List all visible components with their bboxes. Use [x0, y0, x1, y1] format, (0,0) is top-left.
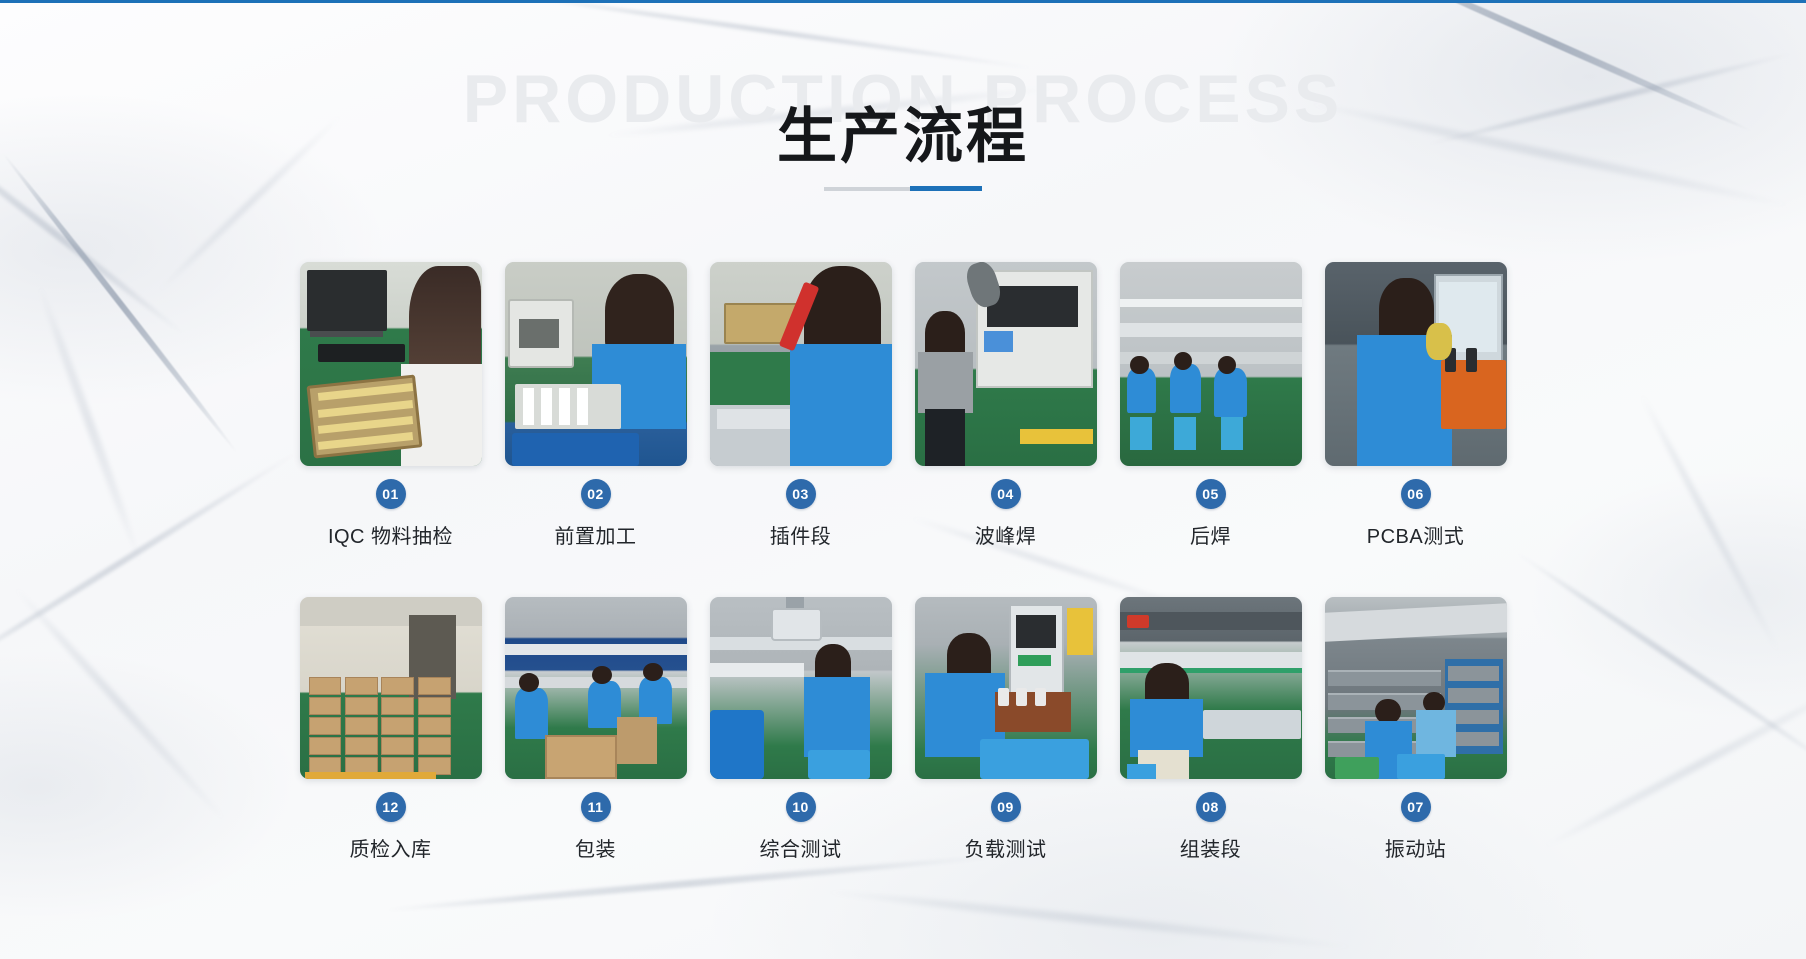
process-row: 12质检入库11包装10综合测试09负载测试08组装段07振动站: [300, 597, 1507, 862]
step-label: 波峰焊: [975, 520, 1037, 549]
process-photo-05[interactable]: [1120, 262, 1302, 466]
photo-pcba-testing: [1325, 262, 1507, 466]
carton: [309, 737, 342, 755]
bench: [710, 663, 805, 678]
step-number-badge: 05: [1196, 479, 1226, 509]
top-accent-bar: [0, 0, 1806, 3]
title-divider: [0, 186, 1806, 191]
process-photo-01[interactable]: [300, 262, 482, 466]
stool: [1174, 417, 1196, 450]
process-row: 01IQC 物料抽检02前置加工03插件段04波峰焊05后焊06PCBA测式: [300, 262, 1507, 549]
machine-panel: [987, 286, 1078, 327]
worker-shirt: [790, 344, 892, 466]
step-number-badge: 08: [1196, 792, 1226, 822]
process-photo-10[interactable]: [710, 597, 892, 779]
bin-shelf: [1448, 666, 1499, 681]
stool: [1127, 764, 1156, 779]
carton: [418, 677, 451, 695]
photo-qc-warehouse: [300, 597, 482, 779]
process-photo-02[interactable]: [505, 262, 687, 466]
step-number-badge: 09: [991, 792, 1021, 822]
worker-head: [804, 266, 880, 356]
worker: [588, 681, 621, 728]
yellow-part: [1426, 323, 1451, 360]
worker-pants: [925, 409, 965, 466]
blue-cabinet: [710, 710, 765, 779]
carton: [309, 717, 342, 735]
step-number-badge: 03: [786, 479, 816, 509]
pallet: [305, 772, 436, 779]
process-step-card-12[interactable]: 12质检入库: [300, 597, 482, 862]
screen: [984, 331, 1013, 351]
worker-shirt: [1416, 710, 1456, 757]
step-label: 前置加工: [555, 520, 637, 549]
blue-tray: [1397, 754, 1444, 779]
photo-post-soldering: [1120, 262, 1302, 466]
carton: [381, 677, 414, 695]
step-label: 综合测试: [760, 833, 842, 862]
machine-window: [519, 319, 559, 348]
worker: [1214, 368, 1247, 417]
step-number-badge: 04: [991, 479, 1021, 509]
process-photo-08[interactable]: [1120, 597, 1302, 779]
bulb: [1035, 688, 1046, 706]
part: [577, 388, 588, 425]
bin-shelf: [1448, 732, 1499, 747]
carton: [418, 697, 451, 715]
bin-shelf: [1448, 710, 1499, 725]
process-step-card-08[interactable]: 08组装段: [1120, 597, 1302, 862]
blue-bin: [512, 433, 639, 466]
process-photo-03[interactable]: [710, 262, 892, 466]
part: [541, 388, 552, 425]
process-photo-09[interactable]: [915, 597, 1097, 779]
process-step-card-09[interactable]: 09负载测试: [915, 597, 1097, 862]
floor-stripe: [1020, 429, 1093, 443]
blue-bin: [980, 739, 1089, 779]
step-number-badge: 06: [1401, 479, 1431, 509]
step-number-badge: 07: [1401, 792, 1431, 822]
parts-row: [1203, 710, 1301, 739]
step-number-badge: 11: [581, 792, 611, 822]
green-cart: [1335, 757, 1379, 779]
worker: [1170, 364, 1201, 413]
carton: [345, 697, 378, 715]
photo-iqc-inspection: [300, 262, 482, 466]
photo-packaging: [505, 597, 687, 779]
shelf: [505, 644, 687, 655]
worker-head: [519, 673, 539, 691]
worker: [1127, 368, 1156, 413]
step-label: 组装段: [1180, 833, 1242, 862]
keyboard: [318, 344, 405, 362]
step-label: 负载测试: [965, 833, 1047, 862]
photo-comprehensive-test: [710, 597, 892, 779]
photo-load-test: [915, 597, 1097, 779]
conveyor: [1120, 652, 1302, 668]
bin-shelf: [1328, 670, 1441, 686]
worker-shirt: [804, 677, 870, 757]
monitor: [307, 270, 387, 331]
fixture-knob: [1466, 348, 1477, 372]
photo-pre-processing: [505, 262, 687, 466]
part: [523, 388, 534, 425]
carton: [381, 737, 414, 755]
carton: [345, 717, 378, 735]
monitor-stand: [310, 331, 383, 337]
carton: [345, 737, 378, 755]
process-photo-12[interactable]: [300, 597, 482, 779]
step-label: 插件段: [770, 520, 832, 549]
divider-segment-blue: [910, 186, 982, 191]
process-step-card-02[interactable]: 02前置加工: [505, 262, 687, 549]
process-photo-07[interactable]: [1325, 597, 1507, 779]
process-photo-04[interactable]: [915, 262, 1097, 466]
hazard-tape: [1067, 608, 1092, 655]
photo-assembly-line: [1120, 597, 1302, 779]
step-number-badge: 01: [376, 479, 406, 509]
carton: [418, 737, 451, 755]
process-photo-06[interactable]: [1325, 262, 1507, 466]
process-step-card-03[interactable]: 03插件段: [710, 262, 892, 549]
carton: [418, 717, 451, 735]
step-label: 质检入库: [350, 833, 432, 862]
marble-vein: [381, 853, 999, 914]
shelf: [1120, 323, 1302, 337]
process-step-card-04[interactable]: 04波峰焊: [915, 262, 1097, 549]
worker-head: [643, 663, 663, 681]
blue-tray: [808, 750, 870, 779]
process-step-card-11[interactable]: 11包装: [505, 597, 687, 862]
red-bin: [1127, 615, 1149, 628]
bulb: [998, 688, 1009, 706]
divider-segment-grey: [824, 187, 910, 191]
process-photo-11[interactable]: [505, 597, 687, 779]
step-label: PCBA测式: [1367, 520, 1464, 549]
cabinet-screen: [1016, 615, 1056, 648]
photo-vibration-station: [1325, 597, 1507, 779]
step-label: IQC 物料抽检: [328, 520, 453, 549]
page-header: PRODUCTION PROCESS 生产流程: [0, 0, 1806, 230]
marble-vein: [821, 887, 1359, 952]
process-step-card-10[interactable]: 10综合测试: [710, 597, 892, 862]
carton: [309, 677, 342, 695]
worker-head: [1130, 356, 1148, 374]
stool: [1130, 417, 1152, 450]
process-step-card-05[interactable]: 05后焊: [1120, 262, 1302, 549]
step-label: 振动站: [1385, 833, 1447, 862]
ceiling-light: [1120, 299, 1302, 307]
photo-wave-soldering: [915, 262, 1097, 466]
process-step-card-01[interactable]: 01IQC 物料抽检: [300, 262, 482, 549]
process-step-card-07[interactable]: 07振动站: [1325, 597, 1507, 862]
process-step-card-06[interactable]: 06PCBA测式: [1325, 262, 1507, 549]
page-background: PRODUCTION PROCESS 生产流程 01IQC 物料抽检02前置加工…: [0, 0, 1806, 959]
step-number-badge: 12: [376, 792, 406, 822]
bulb: [1016, 688, 1027, 706]
stool: [1221, 417, 1243, 450]
bin-shelf: [1448, 688, 1499, 703]
carton: [309, 697, 342, 715]
photo-insertion-line: [710, 262, 892, 466]
worker-shirt: [1130, 699, 1203, 757]
page-title: 生产流程: [0, 88, 1806, 175]
carton: [381, 697, 414, 715]
worker-head: [1218, 356, 1236, 374]
open-carton: [545, 735, 618, 779]
step-number-badge: 10: [786, 792, 816, 822]
gantry-head: [771, 608, 822, 641]
part: [559, 388, 570, 425]
step-number-badge: 02: [581, 479, 611, 509]
worker: [515, 688, 548, 739]
step-label: 包装: [575, 833, 616, 862]
worker-shirt: [918, 352, 973, 413]
cabinet-led: [1018, 655, 1051, 666]
carton: [345, 677, 378, 695]
step-label: 后焊: [1190, 520, 1231, 549]
process-step-grid: 01IQC 物料抽检02前置加工03插件段04波峰焊05后焊06PCBA测式12…: [0, 262, 1806, 862]
carton: [617, 717, 657, 764]
carton: [381, 717, 414, 735]
